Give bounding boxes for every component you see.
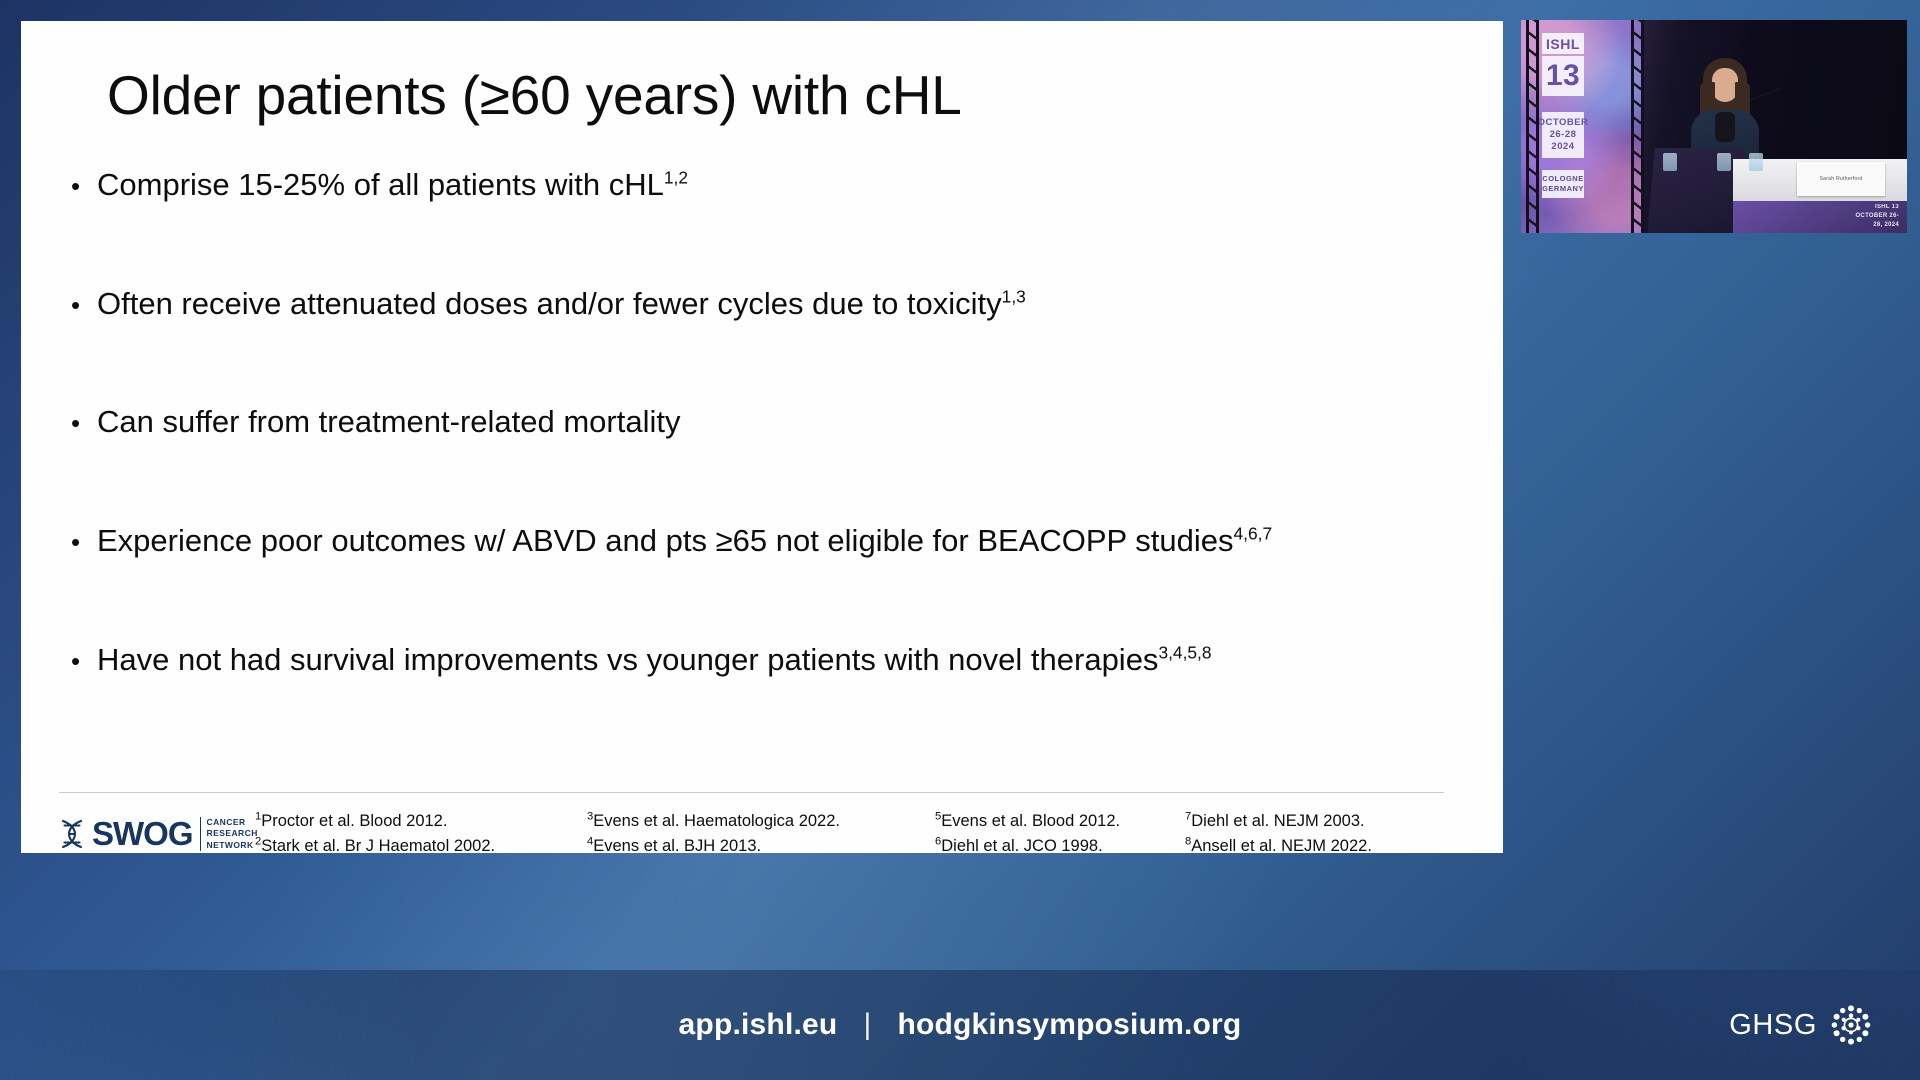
stage-logo-line1: ISHL 13 (1847, 203, 1899, 212)
swog-tagline-line1: CANCER (207, 817, 246, 827)
swog-logo: SWOG CANCER RESEARCH NETWORK (59, 817, 255, 851)
bullet-marker-icon: • (71, 529, 97, 555)
stage-lower-logo: ISHL 13 OCTOBER 26-28, 2024 (1847, 203, 1899, 225)
ghsg-rosette-icon (1830, 1004, 1872, 1046)
water-glass (1717, 153, 1731, 171)
reference-text: Ansell et al. NEJM 2022. (1191, 837, 1372, 853)
speaker-video-thumbnail[interactable]: ISHL 13 OCTOBER 26-28 2024 COLOGNE GERMA… (1521, 20, 1907, 233)
presentation-viewer: Older patients (≥60 years) with cHL • Co… (0, 0, 1920, 1080)
banner-country: GERMANY (1542, 184, 1584, 195)
list-item-text: Often receive attenuated doses and/or fe… (97, 287, 1026, 322)
list-item: • Experience poor outcomes w/ ABVD and p… (71, 524, 1491, 559)
footnote-area: SWOG CANCER RESEARCH NETWORK 1Proctor et… (59, 805, 1479, 853)
list-item: • Comprise 15-25% of all patients with c… (71, 168, 1491, 203)
banner-month: OCTOBER (1538, 117, 1589, 129)
reference-text: Evens et al. Haematologica 2022. (593, 812, 840, 830)
banner-location: COLOGNE GERMANY (1542, 170, 1584, 198)
list-item-text: Can suffer from treatment-related mortal… (97, 405, 680, 440)
banner-year: 2024 (1551, 141, 1574, 153)
reference-superscript: 1,2 (664, 168, 688, 188)
dna-helix-icon (59, 819, 85, 849)
speaker-nameplate: Sarah Rutherford (1797, 162, 1885, 196)
reference-text: Evens et al. BJH 2013. (593, 837, 761, 853)
reference-text: Evens et al. Blood 2012. (941, 812, 1120, 830)
banner-city: COLOGNE (1542, 174, 1583, 185)
banner-edition: 13 (1542, 56, 1584, 96)
conference-banner: ISHL 13 OCTOBER 26-28 2024 COLOGNE GERMA… (1521, 20, 1643, 233)
reference-item: 7Diehl et al. NEJM 2003. (1185, 809, 1372, 834)
water-glass (1663, 153, 1677, 171)
reference-item: 5Evens et al. Blood 2012. (935, 809, 1185, 834)
reference-text: Diehl et al. JCO 1998. (941, 837, 1102, 853)
swog-tagline: CANCER RESEARCH NETWORK (200, 817, 258, 851)
bullet-marker-icon: • (71, 173, 97, 199)
reference-text: Proctor et al. Blood 2012. (261, 812, 447, 830)
footer-banner: app.ishl.eu|hodgkinsymposium.org GHSG (0, 970, 1920, 1080)
footnote-divider (59, 792, 1444, 793)
reference-column: 3Evens et al. Haematologica 2022. 4Evens… (587, 805, 935, 853)
reference-text: Diehl et al. NEJM 2003. (1191, 812, 1364, 830)
reference-item: 3Evens et al. Haematologica 2022. (587, 809, 935, 834)
list-item-text: Have not had survival improvements vs yo… (97, 643, 1212, 678)
reference-item: 6Diehl et al. JCO 1998. (935, 834, 1185, 853)
bullet-marker-icon: • (71, 648, 97, 674)
slide-canvas: Older patients (≥60 years) with cHL • Co… (21, 21, 1503, 853)
reference-item: 4Evens et al. BJH 2013. (587, 834, 935, 853)
reference-superscript: 1,3 (1002, 286, 1026, 306)
reference-superscript: 4,6,7 (1234, 524, 1273, 544)
reference-item: 1Proctor et al. Blood 2012. (255, 809, 587, 834)
banner-acronym: ISHL (1542, 33, 1584, 54)
list-item: • Often receive attenuated doses and/or … (71, 287, 1491, 322)
list-item-text: Experience poor outcomes w/ ABVD and pts… (97, 524, 1272, 559)
reference-text: Stark et al. Br J Haematol 2002. (261, 837, 495, 853)
list-item-text: Comprise 15-25% of all patients with cHL… (97, 168, 688, 203)
banner-date: OCTOBER 26-28 2024 (1542, 112, 1584, 158)
slide-title: Older patients (≥60 years) with cHL (107, 63, 962, 127)
truss-structure (1526, 20, 1539, 233)
reference-column: 1Proctor et al. Blood 2012. 2Stark et al… (255, 805, 587, 853)
reference-column: 5Evens et al. Blood 2012. 6Diehl et al. … (935, 805, 1185, 853)
bullet-list: • Comprise 15-25% of all patients with c… (71, 168, 1491, 678)
swog-tagline-line2: RESEARCH (207, 828, 258, 838)
bullet-marker-icon: • (71, 410, 97, 436)
reference-superscript: 3,4,5,8 (1158, 643, 1211, 663)
stage-logo-line2: OCTOBER 26-28, 2024 (1847, 212, 1899, 230)
list-item: • Can suffer from treatment-related mort… (71, 405, 1491, 440)
speaker-shirt (1715, 112, 1735, 142)
swog-tagline-line3: NETWORK (207, 840, 254, 850)
footer-link-app[interactable]: app.ishl.eu (679, 1008, 838, 1041)
footer-links: app.ishl.eu|hodgkinsymposium.org (0, 1008, 1920, 1042)
reference-column: 7Diehl et al. NEJM 2003. 8Ansell et al. … (1185, 805, 1372, 853)
footer-separator: | (837, 1008, 897, 1041)
ghsg-logo: GHSG (1729, 1004, 1872, 1046)
truss-structure (1631, 20, 1644, 233)
reference-item: 2Stark et al. Br J Haematol 2002. (255, 834, 587, 853)
water-glass (1749, 153, 1763, 171)
bullet-marker-icon: • (71, 292, 97, 318)
speaker-name: Sarah Rutherford (1820, 176, 1863, 182)
footer-link-site[interactable]: hodgkinsymposium.org (897, 1008, 1241, 1041)
swog-wordmark: SWOG (92, 817, 193, 850)
ghsg-wordmark: GHSG (1729, 1009, 1817, 1042)
banner-days: 26-28 (1550, 129, 1577, 141)
reference-item: 8Ansell et al. NEJM 2022. (1185, 834, 1372, 853)
list-item: • Have not had survival improvements vs … (71, 643, 1491, 678)
